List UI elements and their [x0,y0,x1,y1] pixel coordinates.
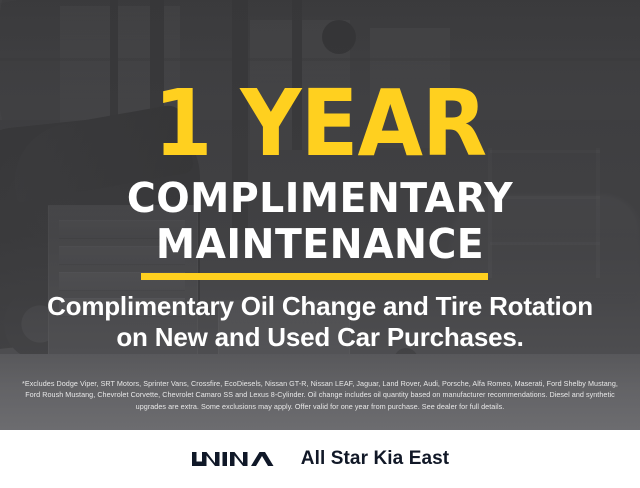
headline-complimentary: COMPLIMENTARY [13,176,627,220]
headline-maintenance: MAINTENANCE [13,222,627,266]
footer-bar: All Star Kia East [0,430,640,488]
maintenance-offer-banner: 1 YEAR COMPLIMENTARY MAINTENANCE Complim… [0,0,640,488]
kia-logo-icon [191,448,279,470]
banner-content: 1 YEAR COMPLIMENTARY MAINTENANCE Complim… [0,0,640,430]
subheadline: Complimentary Oil Change and Tire Rotati… [20,291,620,353]
subheadline-line-2: on New and Used Car Purchases. [20,322,620,353]
headline-year: 1 YEAR [26,78,615,170]
dealer-name: All Star Kia East [301,448,449,470]
subheadline-line-1: Complimentary Oil Change and Tire Rotati… [20,291,620,322]
footer-branding: All Star Kia East [191,448,449,470]
yellow-divider [141,273,488,280]
disclaimer-text: *Excludes Dodge Viper, SRT Motors, Sprin… [14,378,626,412]
